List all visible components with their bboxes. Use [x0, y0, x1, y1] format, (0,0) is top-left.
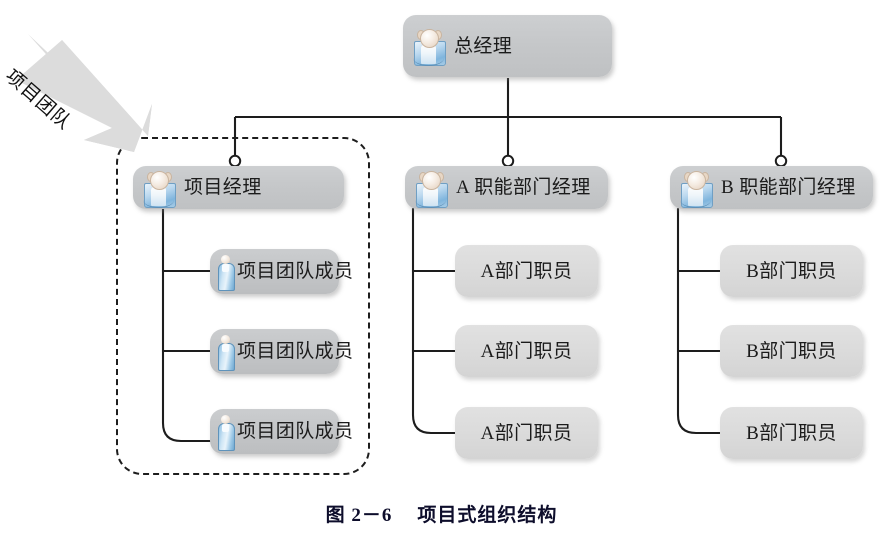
- node-label: B部门职员: [746, 424, 837, 443]
- node-label: 项目团队成员: [235, 262, 353, 281]
- node-dept-a-staff-3[interactable]: A部门职员: [455, 407, 598, 459]
- node-functional-manager-b[interactable]: B 职能部门经理: [670, 166, 873, 209]
- node-dept-b-staff-3[interactable]: B部门职员: [720, 407, 863, 459]
- node-label: A部门职员: [481, 424, 573, 443]
- figure-number: 图 2－6: [326, 505, 393, 526]
- node-dept-a-staff-1[interactable]: A部门职员: [455, 245, 598, 297]
- wire-spine-b: [678, 209, 720, 433]
- wire-spine-a: [413, 209, 455, 433]
- standing-person-icon: [216, 334, 235, 370]
- figure-title: 项目式组织结构: [417, 505, 557, 526]
- node-label: B部门职员: [746, 342, 837, 361]
- node-label: A部门职员: [481, 342, 573, 361]
- standing-person-icon: [216, 254, 235, 290]
- node-dept-b-staff-1[interactable]: B部门职员: [720, 245, 863, 297]
- org-chart-figure: 项目团队 总经理 项目经理 A 职能部门经理 B 职能部门经理: [0, 0, 883, 535]
- node-label: 项目团队成员: [235, 422, 353, 441]
- connector-dot-b: [776, 156, 786, 166]
- person-icon: [412, 28, 446, 64]
- node-label: 项目团队成员: [235, 342, 353, 361]
- node-label: B 职能部门经理: [713, 178, 856, 197]
- node-label: 项目经理: [176, 178, 262, 197]
- standing-person-icon: [216, 414, 235, 450]
- node-project-manager[interactable]: 项目经理: [133, 166, 344, 209]
- figure-caption: 图 2－6 项目式组织结构: [0, 500, 883, 527]
- person-icon: [414, 170, 448, 206]
- node-project-member-2[interactable]: 项目团队成员: [210, 329, 339, 374]
- node-label: B部门职员: [746, 262, 837, 281]
- connector-dot-a: [503, 156, 513, 166]
- person-icon: [679, 170, 713, 206]
- node-functional-manager-a[interactable]: A 职能部门经理: [405, 166, 608, 209]
- node-label: A 职能部门经理: [448, 178, 591, 197]
- node-dept-a-staff-2[interactable]: A部门职员: [455, 325, 598, 377]
- node-label: A部门职员: [481, 262, 573, 281]
- node-dept-b-staff-2[interactable]: B部门职员: [720, 325, 863, 377]
- node-label: 总经理: [446, 37, 512, 56]
- node-project-member-3[interactable]: 项目团队成员: [210, 409, 339, 454]
- node-project-member-1[interactable]: 项目团队成员: [210, 249, 339, 294]
- node-general-manager[interactable]: 总经理: [403, 15, 612, 77]
- person-icon: [142, 170, 176, 206]
